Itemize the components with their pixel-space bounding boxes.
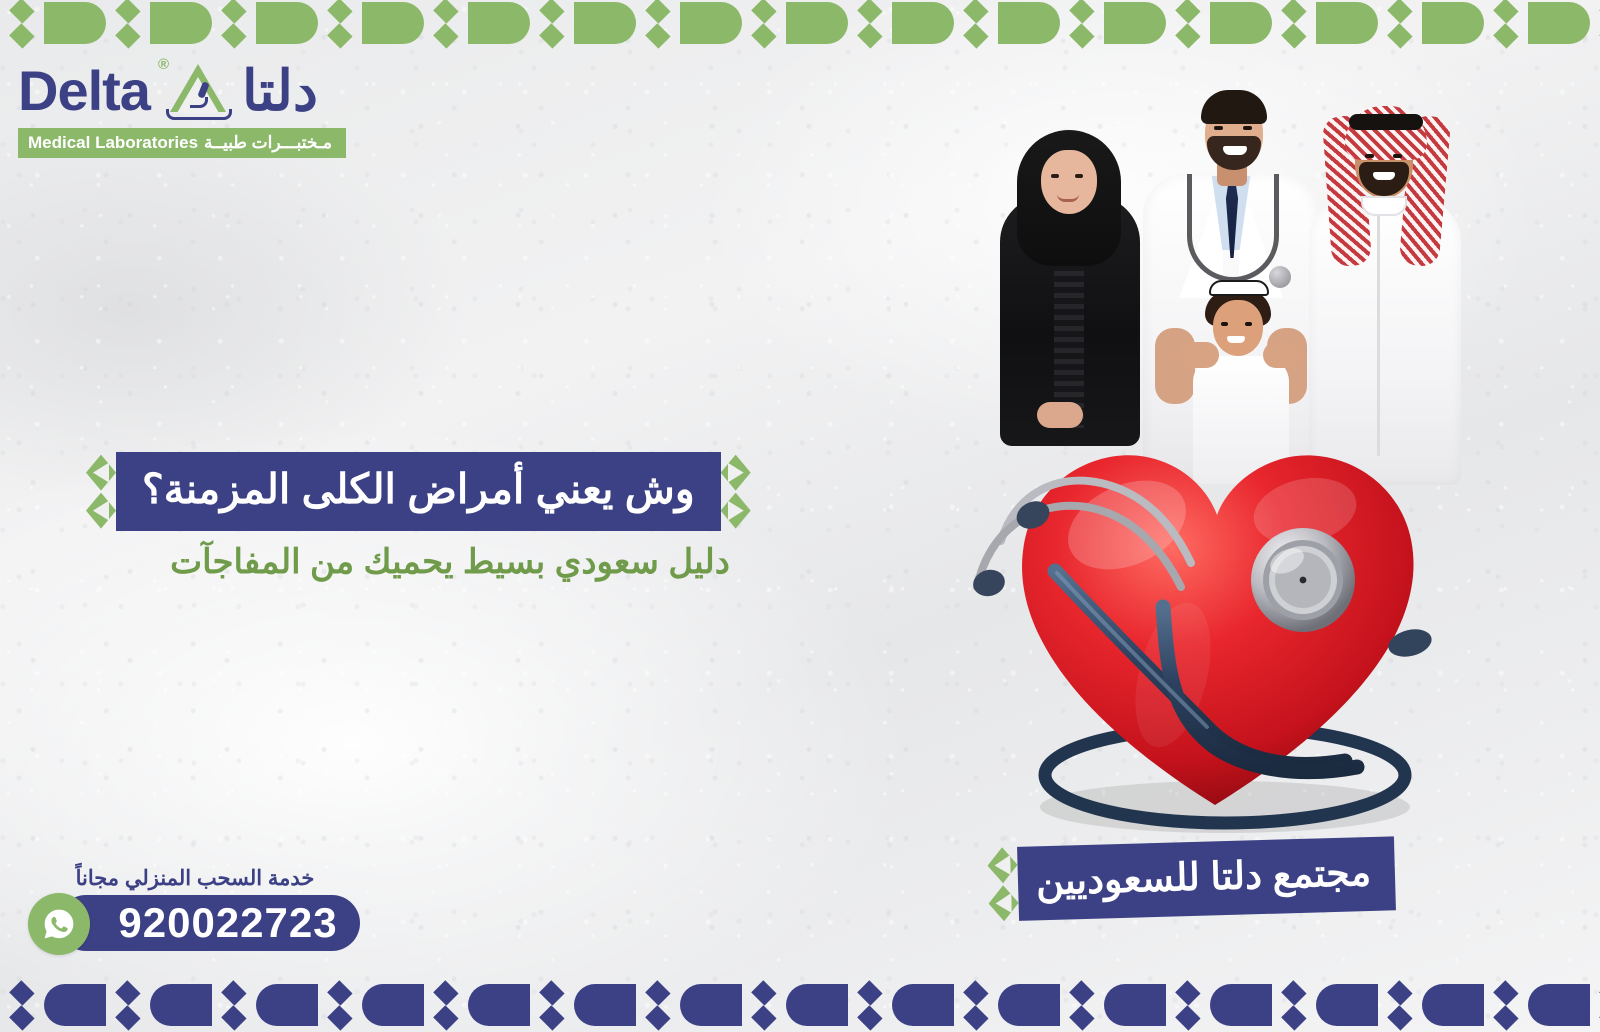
logo-arabic-wordmark: دلتا	[242, 63, 318, 119]
tagline-arabic: مـختبـــرات طبيــة	[204, 133, 332, 153]
border-motif	[742, 982, 848, 1028]
logo-tagline-band: Medical Laboratories مـختبـــرات طبيــة	[18, 128, 346, 158]
green-diamond-accent-right	[721, 452, 751, 531]
bottom-border-pattern	[0, 978, 1600, 1032]
border-motif	[636, 0, 742, 46]
border-motif	[1060, 982, 1166, 1028]
contact-block: خدمة السحب المنزلي مجاناً 920022723	[28, 866, 368, 955]
border-motif	[1484, 982, 1590, 1028]
border-motif	[1166, 0, 1272, 46]
border-motif	[1166, 982, 1272, 1028]
border-motif	[742, 0, 848, 46]
brand-logo: Delta ® دلتا Medical Laboratories مـختبـ…	[18, 58, 358, 158]
border-motif	[1484, 0, 1590, 46]
tagline-english: Medical Laboratories	[28, 133, 198, 153]
heart-stethoscope-graphic	[905, 375, 1525, 845]
border-motif	[848, 0, 954, 46]
border-motif	[1590, 0, 1600, 46]
border-motif	[0, 982, 106, 1028]
registered-mark: ®	[158, 56, 169, 73]
microscope-triangle-icon: ®	[162, 60, 236, 122]
doctor-stethoscope-icon	[1187, 174, 1279, 282]
border-motif	[1378, 982, 1484, 1028]
border-motif	[1060, 0, 1166, 46]
border-motif	[636, 982, 742, 1028]
border-motif	[212, 982, 318, 1028]
border-motif	[0, 0, 106, 46]
page-title: وش يعني أمراض الكلى المزمنة؟	[142, 466, 695, 513]
phone-number: 920022723	[118, 902, 337, 944]
phone-pill[interactable]: 920022723	[58, 895, 360, 951]
top-border-pattern	[0, 0, 1600, 46]
border-motif	[1272, 982, 1378, 1028]
page-subtitle: دليل سعودي بسيط يحميك من المفاجآت	[100, 540, 800, 584]
border-motif	[318, 0, 424, 46]
border-motif	[106, 982, 212, 1028]
home-draw-note: خدمة السحب المنزلي مجاناً	[28, 866, 368, 891]
hand-right	[1263, 342, 1305, 368]
border-motif	[424, 982, 530, 1028]
border-motif	[954, 982, 1060, 1028]
community-banner: مجتمع دلتا للسعوديين	[987, 836, 1396, 921]
banner-diamond-accent-left	[987, 847, 1019, 922]
border-motif	[530, 982, 636, 1028]
border-motif	[318, 982, 424, 1028]
border-motif	[106, 0, 212, 46]
border-motif	[212, 0, 318, 46]
border-motif	[530, 0, 636, 46]
poster-canvas: Delta ® دلتا Medical Laboratories مـختبـ…	[0, 0, 1600, 1032]
border-motif	[954, 0, 1060, 46]
logo-latin-wordmark: Delta	[18, 63, 150, 119]
banner-label: مجتمع دلتا للسعوديين	[1035, 849, 1371, 903]
green-diamond-accent-left	[86, 452, 116, 531]
headline-container: وش يعني أمراض الكلى المزمنة؟	[86, 452, 751, 531]
headline-bar: وش يعني أمراض الكلى المزمنة؟	[116, 452, 721, 531]
border-motif	[1378, 0, 1484, 46]
banner-bar: مجتمع دلتا للسعوديين	[1017, 836, 1396, 921]
whatsapp-icon[interactable]	[28, 893, 90, 955]
border-motif	[1272, 0, 1378, 46]
border-motif	[848, 982, 954, 1028]
border-motif	[424, 0, 530, 46]
border-motif	[1590, 982, 1600, 1028]
hand-left	[1177, 342, 1219, 368]
